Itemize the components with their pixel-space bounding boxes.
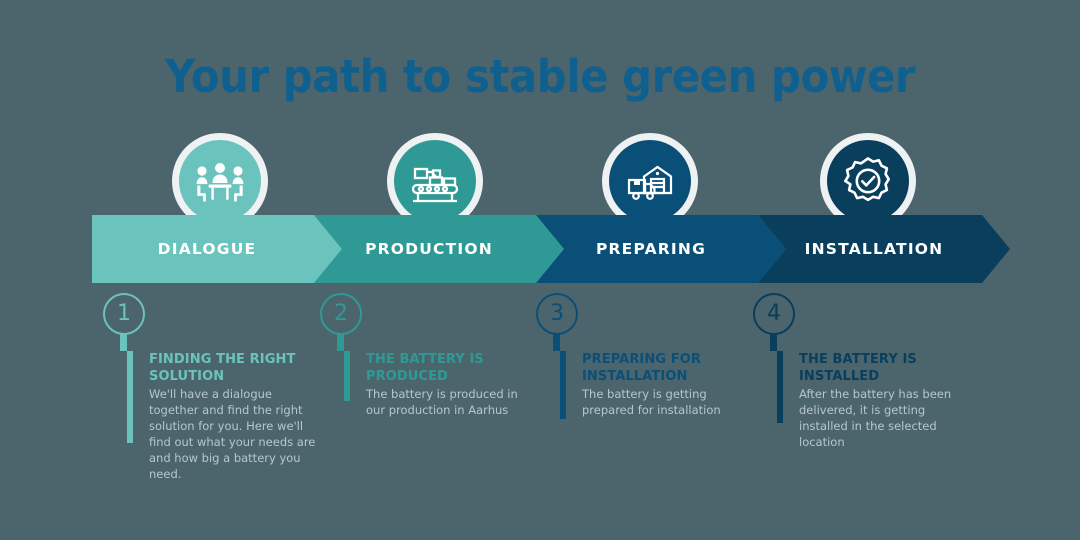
step-number-badge: 4 <box>753 293 795 335</box>
stage-chevron-production[interactable]: PRODUCTION <box>314 215 564 283</box>
step-accent-bar <box>344 351 350 401</box>
stage-chevron-dialogue[interactable]: DIALOGUE <box>92 215 342 283</box>
gear-checkmark-icon <box>827 140 909 222</box>
step-number-badge: 3 <box>536 293 578 335</box>
step-number-badge: 1 <box>103 293 145 335</box>
page-title: Your path to stable green power <box>38 50 1042 103</box>
meeting-people-icon <box>179 140 261 222</box>
step-number-badge: 2 <box>320 293 362 335</box>
step-title: THE BATTERY IS INSTALLED <box>799 351 969 385</box>
step-stem <box>337 333 344 351</box>
step-accent-bar <box>560 351 566 419</box>
conveyor-belt-icon <box>394 140 476 222</box>
step-description: The battery is produced in our productio… <box>366 386 536 418</box>
process-banner: DIALOGUE PRODUCTION PREPARING INSTALLATI… <box>92 215 992 283</box>
stage-icon-production <box>387 133 483 229</box>
stage-icon-dialogue <box>172 133 268 229</box>
step-accent-bar <box>127 351 133 443</box>
step-stem <box>770 333 777 351</box>
step-title: THE BATTERY IS PRODUCED <box>366 351 536 385</box>
step-description: The battery is getting prepared for inst… <box>582 386 752 418</box>
stage-icon-preparing <box>602 133 698 229</box>
step-text: THE BATTERY IS INSTALLED After the batte… <box>799 351 969 450</box>
stage-chevron-preparing[interactable]: PREPARING <box>536 215 786 283</box>
stage-label: DIALOGUE <box>158 240 257 258</box>
step-accent-bar <box>777 351 783 423</box>
step-text: FINDING THE RIGHT SOLUTION We'll have a … <box>149 351 319 482</box>
step-stem <box>553 333 560 351</box>
step-description: After the battery has been delivered, it… <box>799 386 969 450</box>
stage-label: INSTALLATION <box>805 240 944 258</box>
infographic-root: Your path to stable green power DIALOGUE… <box>0 0 1080 540</box>
step-description: We'll have a dialogue together and find … <box>149 386 319 482</box>
stage-label: PREPARING <box>596 240 706 258</box>
step-title: FINDING THE RIGHT SOLUTION <box>149 351 319 385</box>
step-text: PREPARING FOR INSTALLATION The battery i… <box>582 351 752 418</box>
step-text: THE BATTERY IS PRODUCED The battery is p… <box>366 351 536 418</box>
stage-chevron-installation[interactable]: INSTALLATION <box>758 215 1010 283</box>
step-stem <box>120 333 127 351</box>
stage-label: PRODUCTION <box>365 240 493 258</box>
step-title: PREPARING FOR INSTALLATION <box>582 351 752 385</box>
stage-icon-installation <box>820 133 916 229</box>
warehouse-truck-icon <box>609 140 691 222</box>
